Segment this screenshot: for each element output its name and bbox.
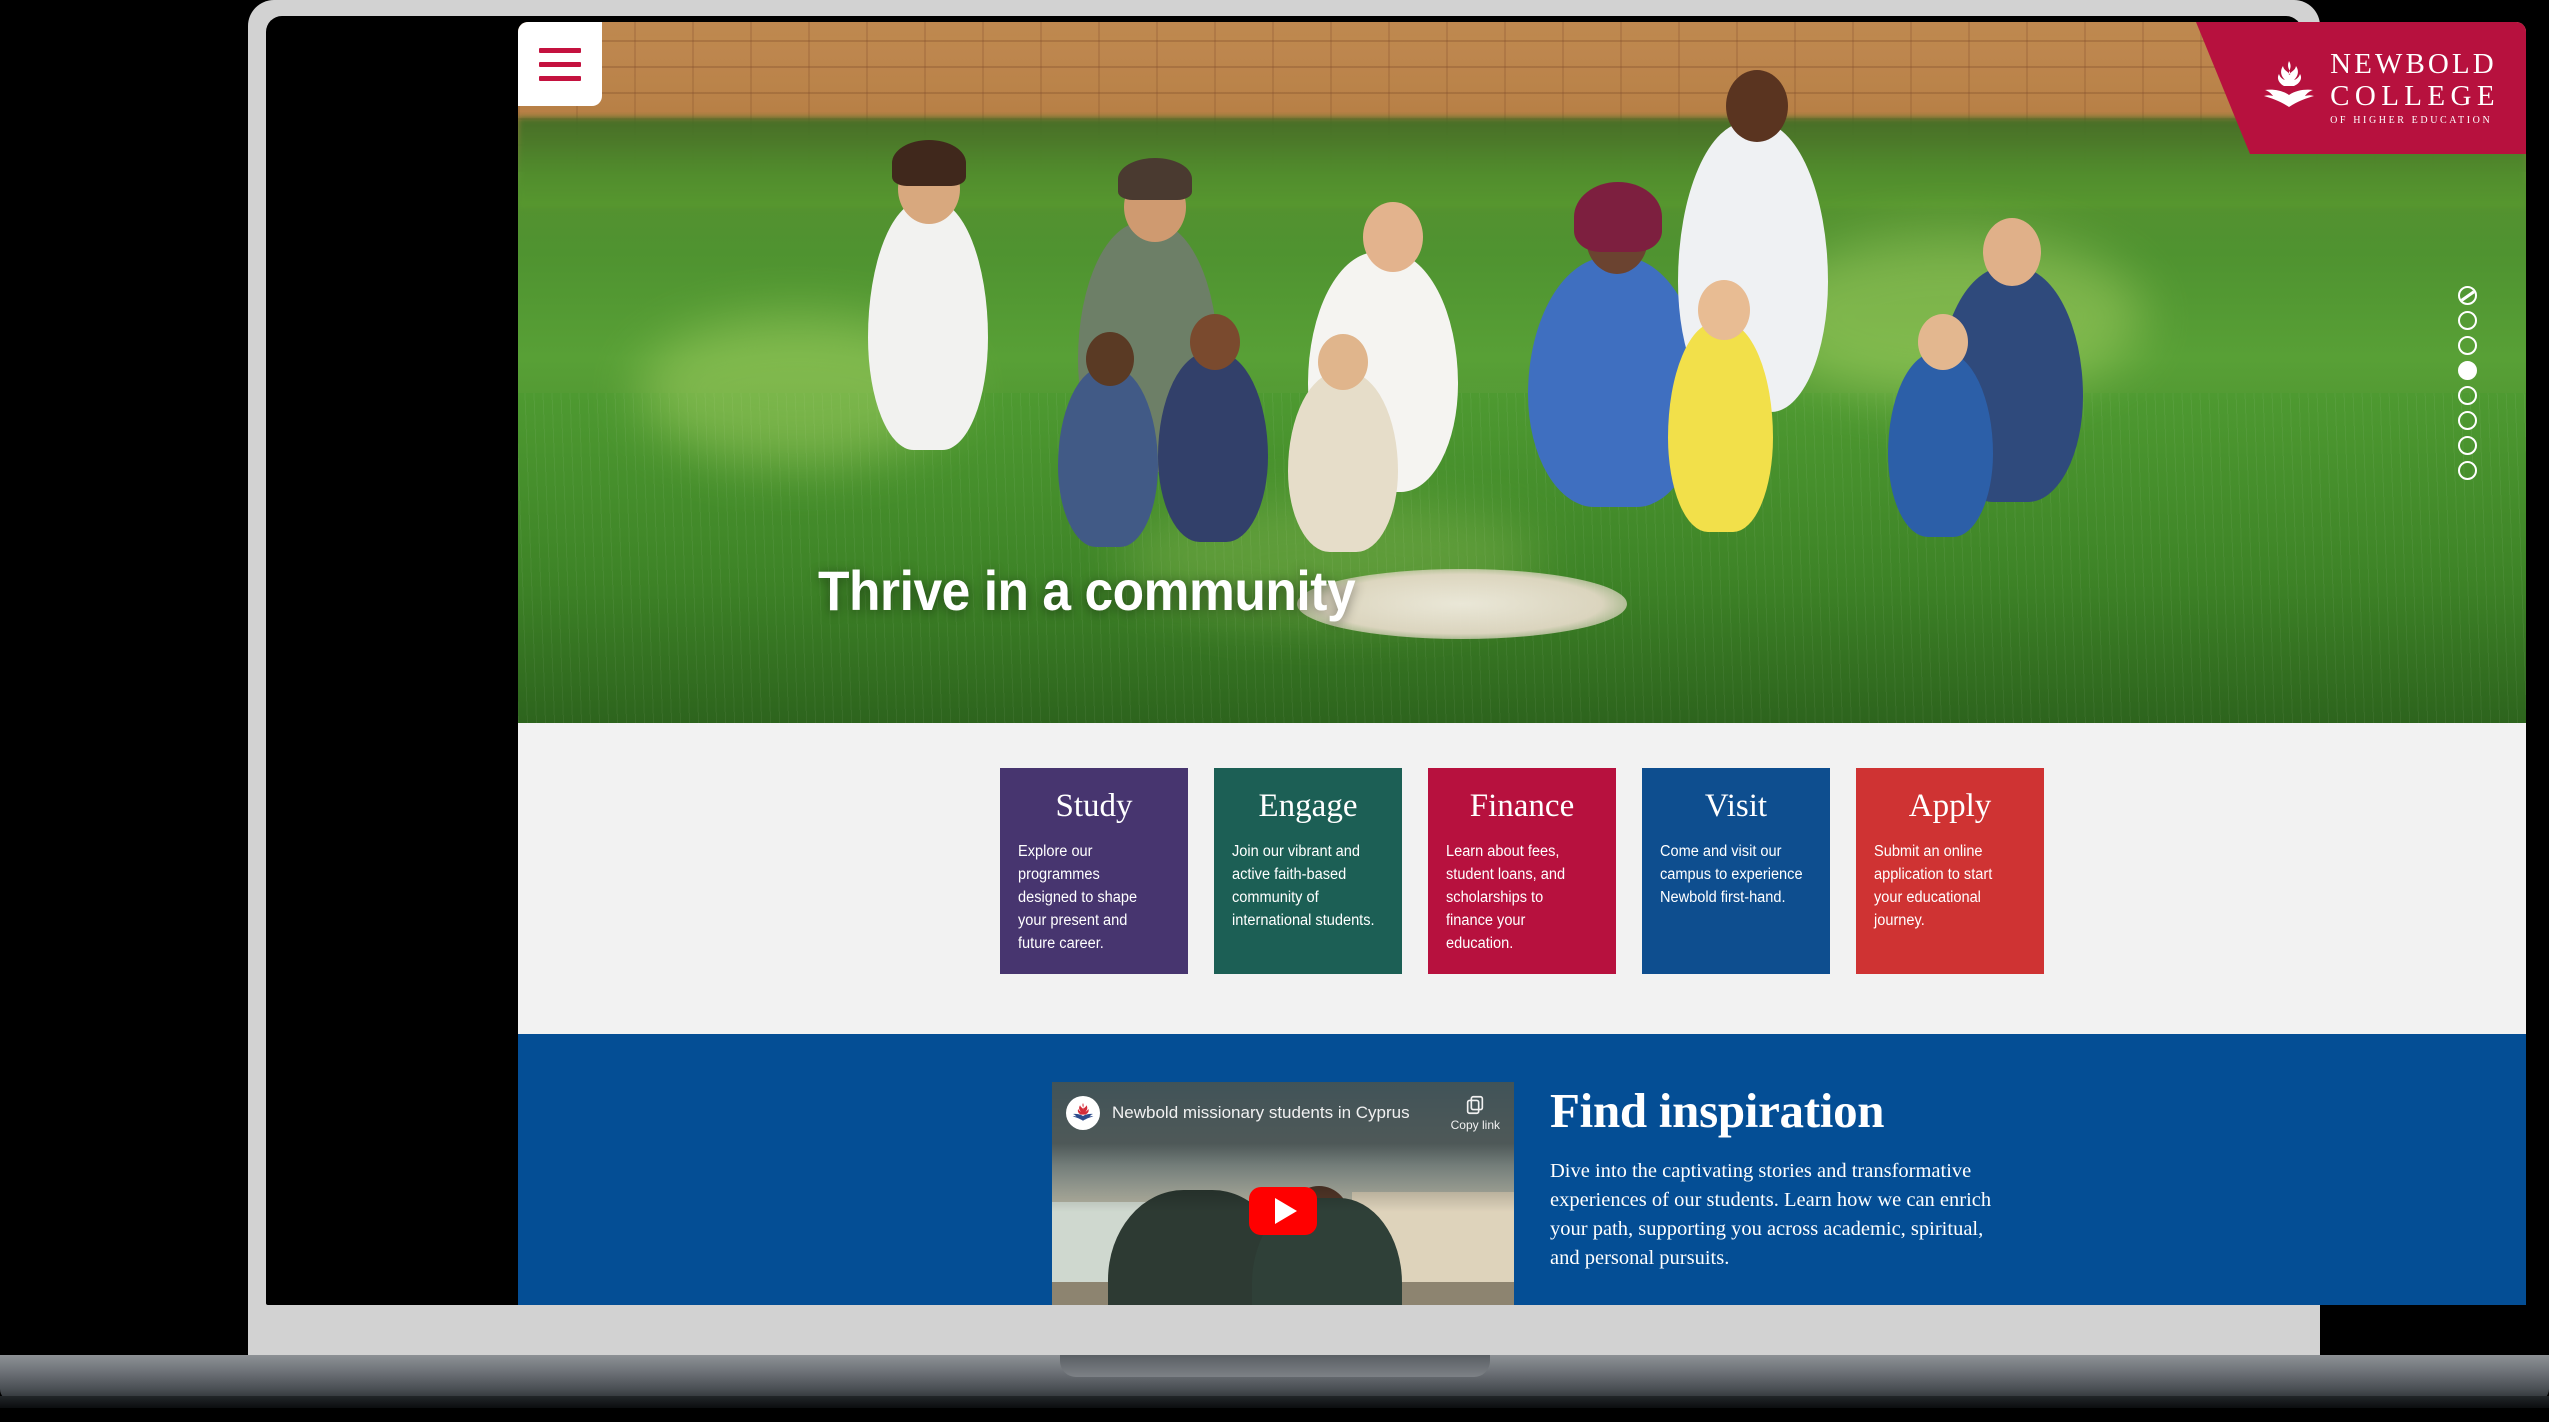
card-engage[interactable]: Engage Join our vibrant and active faith… (1214, 768, 1402, 974)
card-body: Explore our programmes designed to shape… (1018, 841, 1161, 956)
logo-line-3: OF HIGHER EDUCATION (2330, 116, 2492, 126)
hamburger-line-2 (539, 62, 581, 67)
flame-book-logo-icon (2262, 59, 2316, 117)
hedge-backdrop (518, 118, 2526, 208)
hamburger-line-1 (539, 48, 581, 53)
youtube-embed[interactable]: Newbold missionary students in Cyprus Co… (1052, 1082, 1514, 1305)
browser-viewport: NEWBOLD COLLEGE OF HIGHER EDUCATION Thri… (518, 22, 2526, 1305)
hamburger-menu-button[interactable] (518, 22, 602, 106)
card-title: Engage (1232, 788, 1384, 825)
inspiration-text-block: Find inspiration Dive into the captivati… (1550, 1082, 1992, 1273)
slider-dot-8[interactable] (2458, 461, 2477, 480)
card-title: Apply (1874, 788, 2026, 825)
channel-logo-icon (1071, 1101, 1095, 1125)
slider-dot-2[interactable] (2458, 311, 2477, 330)
card-apply[interactable]: Apply Submit an online application to st… (1856, 768, 2044, 974)
inspiration-heading: Find inspiration (1550, 1082, 1992, 1139)
play-button[interactable] (1249, 1187, 1317, 1235)
card-visit[interactable]: Visit Come and visit our campus to exper… (1642, 768, 1830, 974)
card-body: Learn about fees, student loans, and sch… (1446, 841, 1589, 956)
video-title[interactable]: Newbold missionary students in Cyprus (1112, 1103, 1451, 1123)
slider-dot-4-active[interactable] (2458, 361, 2477, 380)
slider-dot-5[interactable] (2458, 386, 2477, 405)
laptop-chin (266, 1305, 2302, 1357)
copy-link-label: Copy link (1451, 1118, 1500, 1132)
hero-slider-dots[interactable] (2458, 286, 2477, 480)
logo-line-1: NEWBOLD (2330, 50, 2497, 79)
slider-pause-dot[interactable] (2458, 286, 2477, 305)
hamburger-line-3 (539, 76, 581, 81)
card-title: Visit (1660, 788, 1812, 825)
quick-links-row: Study Explore our programmes designed to… (518, 768, 2526, 974)
site-logo[interactable]: NEWBOLD COLLEGE OF HIGHER EDUCATION (2196, 22, 2526, 154)
inspiration-paragraph: Dive into the captivating stories and tr… (1550, 1157, 1992, 1273)
card-body: Join our vibrant and active faith-based … (1232, 841, 1375, 933)
card-study[interactable]: Study Explore our programmes designed to… (1000, 768, 1188, 974)
card-title: Study (1018, 788, 1170, 825)
card-title: Finance (1446, 788, 1598, 825)
logo-wordmark: NEWBOLD COLLEGE OF HIGHER EDUCATION (2330, 50, 2500, 126)
hero-section: NEWBOLD COLLEGE OF HIGHER EDUCATION Thri… (518, 22, 2526, 723)
card-finance[interactable]: Finance Learn about fees, student loans,… (1428, 768, 1616, 974)
slider-dot-7[interactable] (2458, 436, 2477, 455)
laptop-base-edge (0, 1396, 2549, 1408)
laptop-base-notch (1060, 1355, 1490, 1377)
slider-dot-3[interactable] (2458, 336, 2477, 355)
quick-links-section: Study Explore our programmes designed to… (518, 723, 2526, 1034)
channel-avatar[interactable] (1066, 1096, 1100, 1130)
logo-line-2: COLLEGE (2330, 82, 2500, 111)
copy-icon (1464, 1094, 1486, 1116)
video-header-bar: Newbold missionary students in Cyprus Co… (1052, 1082, 1514, 1144)
slider-dot-6[interactable] (2458, 411, 2477, 430)
laptop-device: NEWBOLD COLLEGE OF HIGHER EDUCATION Thri… (248, 0, 2320, 1365)
card-body: Submit an online application to start yo… (1874, 841, 2017, 933)
inspiration-section: Newbold missionary students in Cyprus Co… (518, 1034, 2526, 1305)
hero-title: Thrive in a community (818, 558, 1355, 623)
copy-link-button[interactable]: Copy link (1451, 1094, 1500, 1132)
card-body: Come and visit our campus to experience … (1660, 841, 1803, 910)
